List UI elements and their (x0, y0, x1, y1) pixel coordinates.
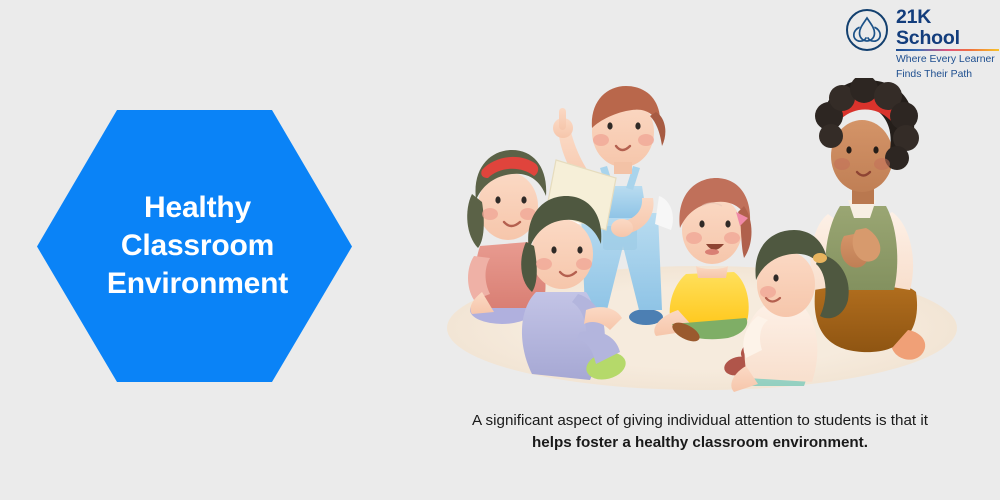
brand-title: 21K School (896, 7, 999, 49)
caption-line-2: helps foster a healthy classroom environ… (420, 432, 980, 454)
screenshot-canvas: 21K School Where Every Learner Finds The… (0, 0, 1000, 500)
caption-line-1: A significant aspect of giving individua… (420, 410, 980, 432)
classroom-illustration (410, 78, 990, 398)
brand-tagline-line1: Where Every Learner (896, 54, 999, 66)
brand-logo[interactable]: 21K School Where Every Learner Finds The… (845, 6, 995, 58)
figure-girl-yellow-top (654, 178, 751, 345)
caption-block: A significant aspect of giving individua… (420, 410, 980, 454)
brand-logo-text: 21K School Where Every Learner Finds The… (896, 6, 999, 81)
hexagon-callout: Healthy Classroom Environment (37, 110, 352, 382)
hexagon-title-line3: Environment (107, 265, 288, 303)
brand-gradient-rule (896, 49, 999, 51)
lotus-circle-logo-icon (845, 8, 889, 52)
hexagon-title-line2: Classroom (107, 227, 288, 265)
hexagon-shape: Healthy Classroom Environment (37, 110, 352, 382)
hexagon-title-line1: Healthy (107, 189, 288, 227)
hexagon-title: Healthy Classroom Environment (101, 189, 288, 303)
